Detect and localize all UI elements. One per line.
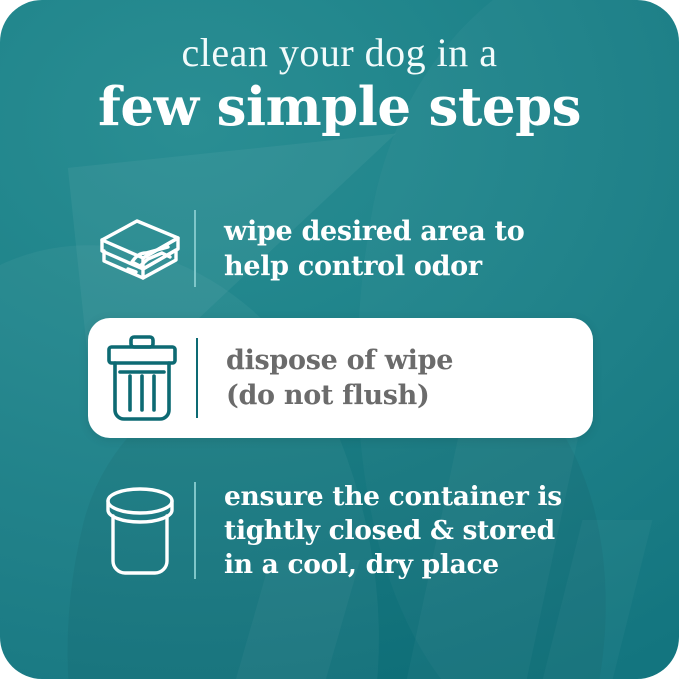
trash-can-icon [88,334,196,422]
step-text-line: help control odor [224,249,594,284]
container-tub-icon [86,485,194,577]
step-text-line: (do not flush) [226,378,593,413]
step-text-line: tightly closed & stored [224,514,606,548]
stack-of-wipes-icon [86,209,194,289]
title-line-2: few simple steps [0,78,679,136]
step-text-line: ensure the container is [224,480,606,514]
step-text-dispose: dispose of wipe (do not flush) [198,343,593,413]
page-title: clean your dog in a few simple steps [0,30,679,136]
poster-root: clean your dog in a few simple steps [0,0,679,679]
step-text-store: ensure the container is tightly closed &… [196,480,606,582]
step-item-dispose: dispose of wipe (do not flush) [88,318,593,438]
poster-frame: clean your dog in a few simple steps [0,0,679,679]
title-line-1: clean your dog in a [0,30,679,76]
step-item-store: ensure the container is tightly closed &… [86,468,606,593]
step-text-wipe: wipe desired area to help control odor [196,214,594,284]
step-text-line: wipe desired area to [224,214,594,249]
step-text-line: dispose of wipe [226,343,593,378]
step-text-line: in a cool, dry place [224,548,606,582]
step-item-wipe: wipe desired area to help control odor [86,196,594,301]
